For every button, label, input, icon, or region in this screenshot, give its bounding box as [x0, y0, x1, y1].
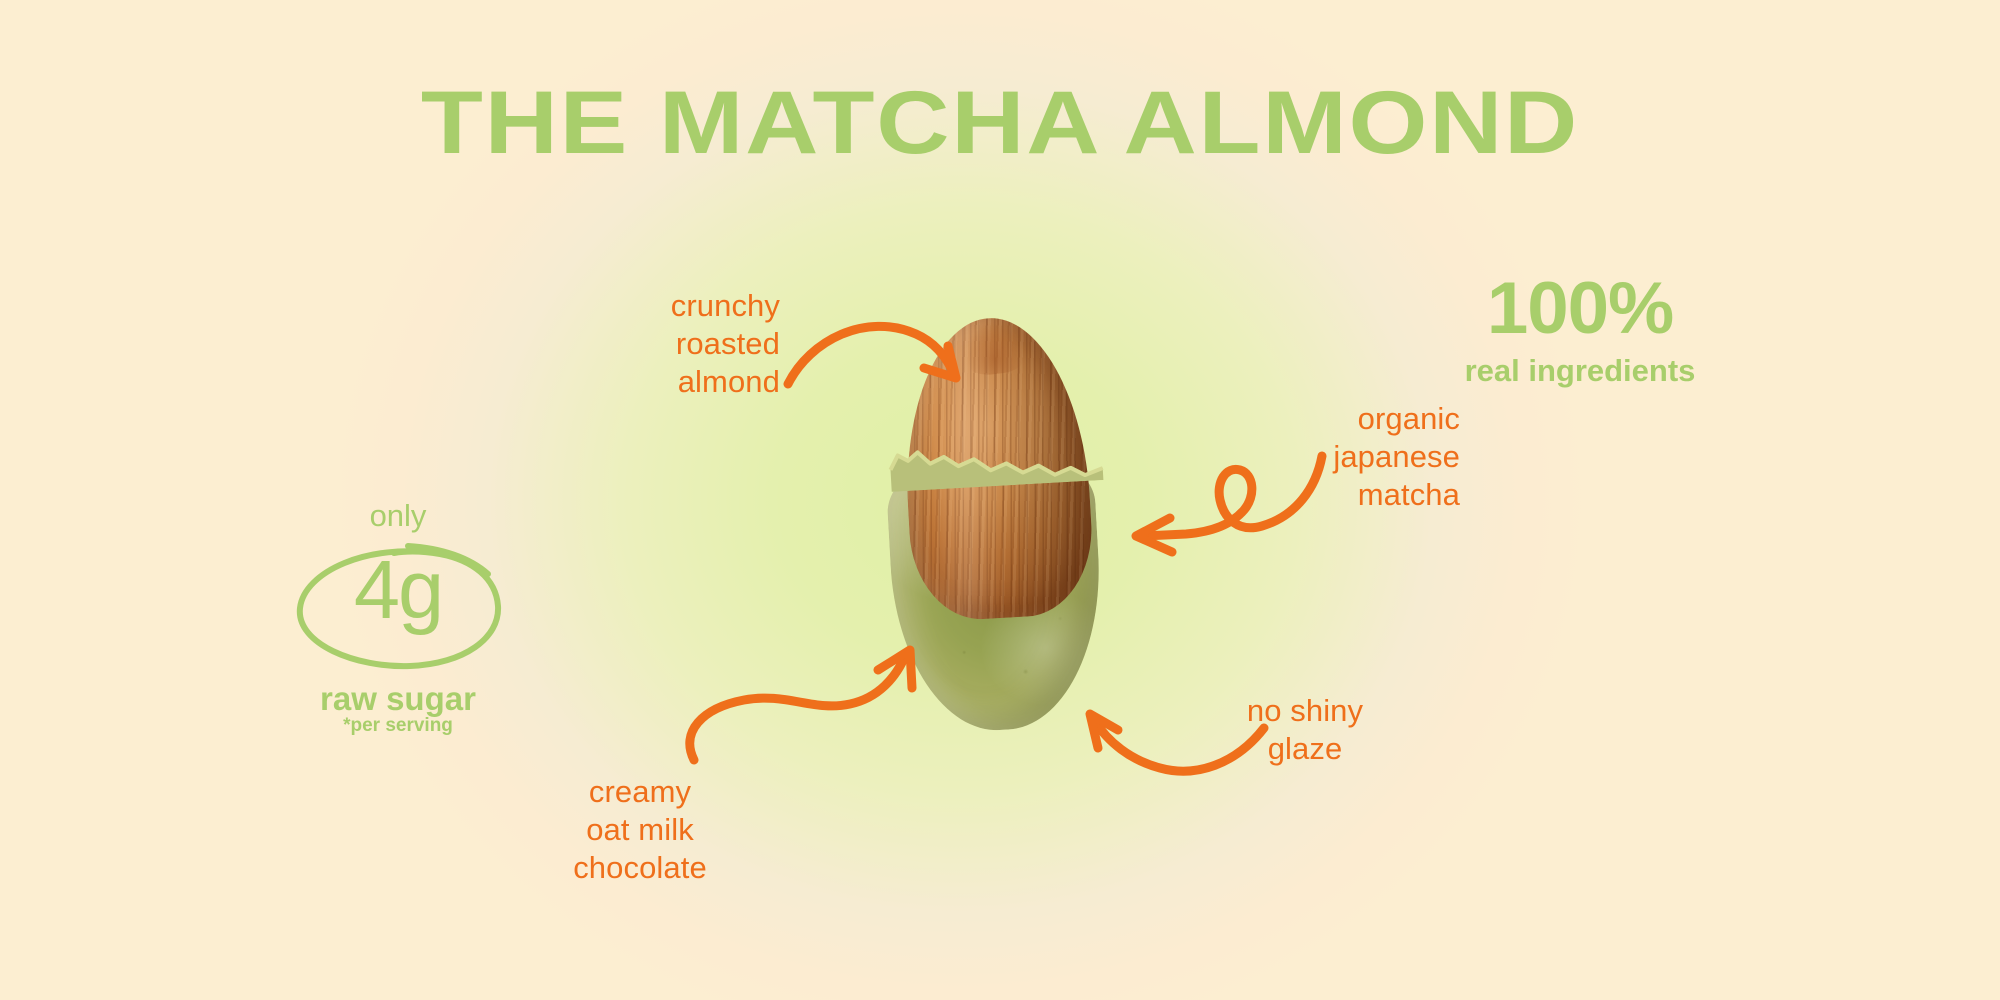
badge-prefix-only: only	[268, 500, 528, 531]
product-image-almond	[884, 318, 1106, 730]
almond-illustration	[884, 318, 1106, 730]
badge-label-raw-sugar: raw sugar	[268, 682, 528, 715]
badge-raw-sugar: only 4g raw sugar *per serving	[268, 500, 528, 700]
page-title: THE MATCHA ALMOND	[0, 78, 2000, 167]
annotation-label-no-shiny-glaze: no shiny glaze	[1180, 692, 1430, 768]
annotation-label-creamy-oat-milk-chocolate: creamy oat milk chocolate	[500, 773, 780, 886]
poster-canvas: THE MATCHA ALMOND crunchy roasted almond…	[0, 0, 2000, 1000]
annotation-label-crunchy-roasted-almond: crunchy roasted almond	[460, 287, 780, 400]
annotation-label-organic-japanese-matcha: organic japanese matcha	[1150, 400, 1460, 513]
badge-note-per-serving: *per serving	[268, 716, 528, 735]
stat-value-100-percent: 100%	[1412, 272, 1749, 345]
stat-real-ingredients: 100% real ingredients	[1415, 272, 1745, 386]
stat-caption-real-ingredients: real ingredients	[1415, 355, 1745, 386]
badge-value-4g: 4g	[268, 548, 528, 631]
